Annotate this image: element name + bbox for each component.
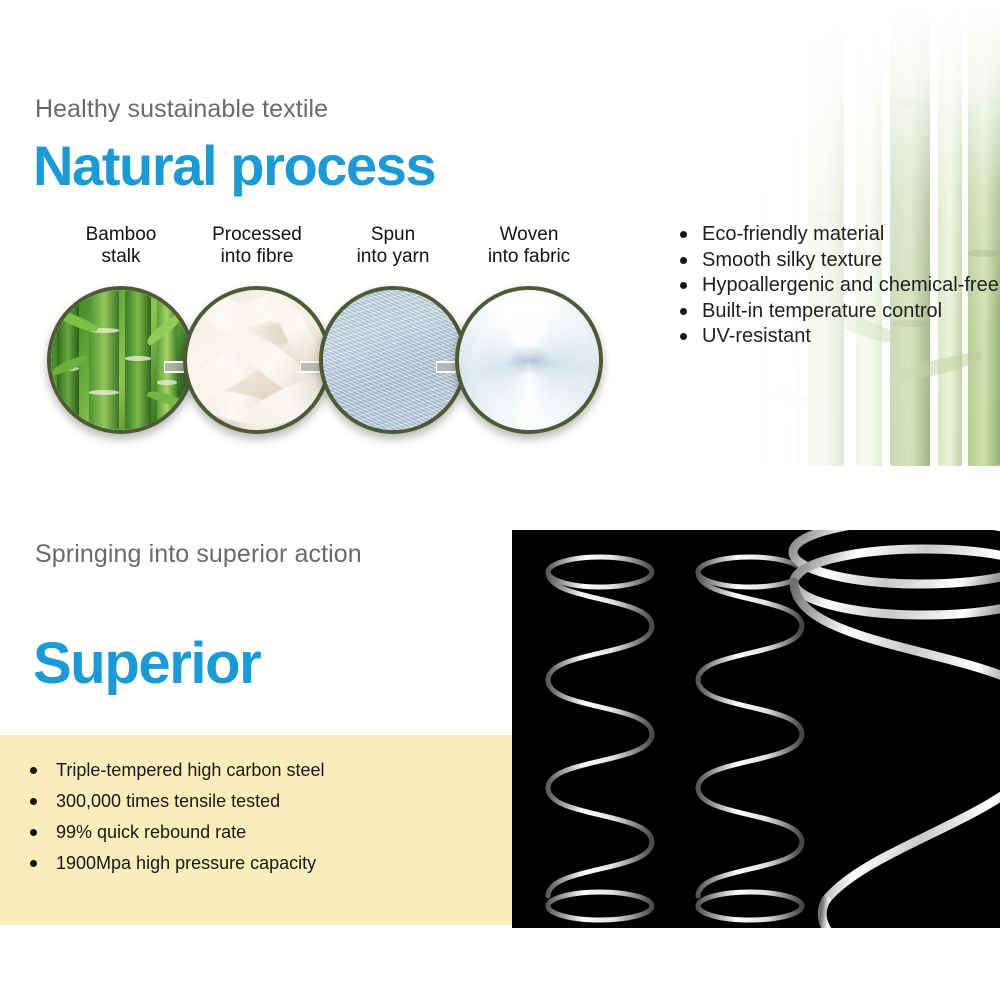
- process-step-label-line2: stalk: [101, 246, 140, 267]
- process-step-label-line1: Woven: [500, 224, 559, 245]
- process-step-label-line2: into fibre: [221, 246, 294, 267]
- list-item: Hypoallergenic and chemical-free: [676, 273, 999, 299]
- spring-spec-box: Triple-tempered high carbon steel 300,00…: [0, 735, 512, 925]
- list-item: Smooth silky texture: [676, 248, 999, 274]
- process-step-spun-into-yarn: Spun into yarn: [318, 224, 468, 268]
- process-step-label: Spun into yarn: [318, 224, 468, 268]
- list-item: UV-resistant: [676, 324, 999, 350]
- natural-process-section: Healthy sustainable textile Natural proc…: [0, 0, 1000, 468]
- process-step-label-line1: Bamboo: [86, 224, 157, 245]
- superior-spring-section: Springing into superior action Superior …: [0, 508, 1000, 928]
- list-item: Built-in temperature control: [676, 299, 999, 325]
- process-step-woven-into-fabric: Woven into fabric: [454, 224, 604, 268]
- spring-headline-line1: Superior: [33, 636, 394, 692]
- spring-spec-list: Triple-tempered high carbon steel 300,00…: [24, 755, 324, 879]
- list-item: 99% quick rebound rate: [24, 817, 324, 848]
- process-step-label-line2: into yarn: [357, 246, 430, 267]
- process-step-bamboo-stalk: Bamboo stalk: [46, 224, 196, 268]
- process-step-label-line2: into fabric: [488, 246, 570, 267]
- process-step-label-line1: Processed: [212, 224, 302, 245]
- mattress-coil-springs-photo: [512, 530, 1000, 928]
- process-step-label-line1: Spun: [371, 224, 415, 245]
- bamboo-feature-list: Eco-friendly material Smooth silky textu…: [676, 222, 999, 350]
- natural-headline: Natural process: [33, 133, 435, 198]
- list-item: 1900Mpa high pressure capacity: [24, 848, 324, 879]
- bamboo-fabric-photo: [455, 286, 603, 434]
- process-step-processed-into-fibre: Processed into fibre: [182, 224, 332, 268]
- bamboo-process-chain: Bamboo stalk Proces: [24, 224, 624, 460]
- process-step-label: Processed into fibre: [182, 224, 332, 268]
- natural-eyebrow-text: Healthy sustainable textile: [35, 95, 328, 124]
- coil-spring-left: [530, 546, 670, 926]
- spring-eyebrow-text: Springing into superior action: [35, 540, 362, 569]
- list-item: 300,000 times tensile tested: [24, 786, 324, 817]
- coil-spring-closeup: [756, 530, 1000, 928]
- list-item: Eco-friendly material: [676, 222, 999, 248]
- process-step-label: Bamboo stalk: [46, 224, 196, 268]
- list-item: Triple-tempered high carbon steel: [24, 755, 324, 786]
- process-step-label: Woven into fabric: [454, 224, 604, 268]
